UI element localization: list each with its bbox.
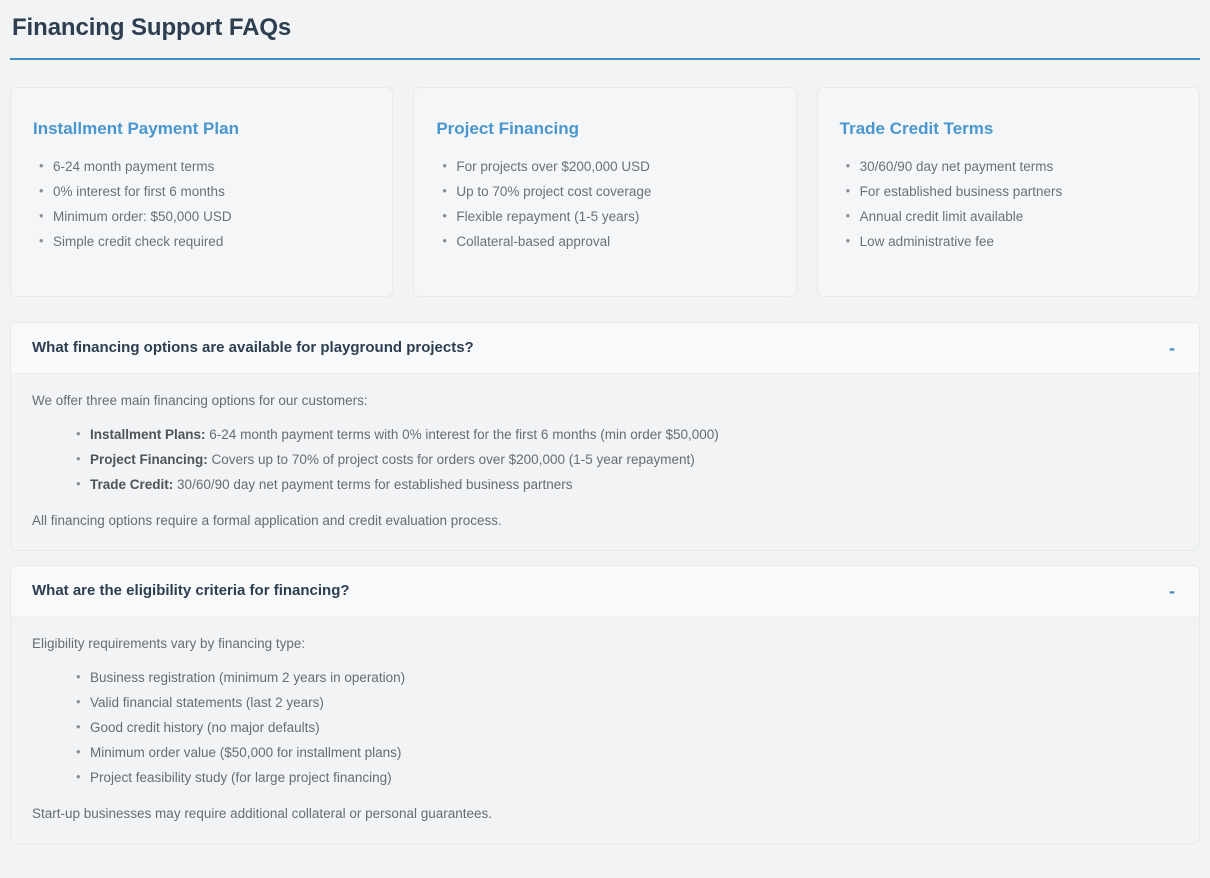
faq-question: What are the eligibility criteria for fi… bbox=[32, 581, 350, 601]
list-item: Minimum order value ($50,000 for install… bbox=[90, 744, 1177, 762]
list-item-text: 6-24 month payment terms with 0% interes… bbox=[209, 427, 718, 442]
list-item: For projects over $200,000 USD bbox=[456, 158, 773, 175]
list-item: 0% interest for first 6 months bbox=[53, 183, 370, 200]
info-card-title: Installment Payment Plan bbox=[33, 118, 370, 140]
list-item-text: Minimum order value ($50,000 for install… bbox=[90, 745, 401, 760]
faq-answer: Eligibility requirements vary by financi… bbox=[11, 617, 1199, 843]
list-item: 30/60/90 day net payment terms bbox=[860, 158, 1177, 175]
info-card-title: Trade Credit Terms bbox=[840, 118, 1177, 140]
list-item: 6-24 month payment terms bbox=[53, 158, 370, 175]
list-item: Trade Credit: 30/60/90 day net payment t… bbox=[90, 476, 1177, 494]
list-item: For established business partners bbox=[860, 183, 1177, 200]
list-item: Project feasibility study (for large pro… bbox=[90, 769, 1177, 787]
list-item-text: Covers up to 70% of project costs for or… bbox=[212, 452, 695, 467]
list-item-text: Good credit history (no major defaults) bbox=[90, 720, 320, 735]
info-card: Trade Credit Terms30/60/90 day net payme… bbox=[817, 87, 1200, 297]
faq-intro-text: Eligibility requirements vary by financi… bbox=[32, 635, 1177, 653]
faq-outro-text: Start-up businesses may require addition… bbox=[32, 805, 1177, 823]
info-card: Installment Payment Plan6-24 month payme… bbox=[10, 87, 393, 297]
info-card-title: Project Financing bbox=[436, 118, 773, 140]
minus-icon[interactable]: - bbox=[1169, 584, 1177, 598]
list-item: Low administrative fee bbox=[860, 233, 1177, 250]
page-header: Financing Support FAQs bbox=[10, 0, 1200, 60]
list-item: Installment Plans: 6-24 month payment te… bbox=[90, 426, 1177, 444]
list-item: Simple credit check required bbox=[53, 233, 370, 250]
list-item-label: Trade Credit: bbox=[90, 477, 173, 492]
info-cards-row: Installment Payment Plan6-24 month payme… bbox=[10, 87, 1200, 297]
list-item-text: Valid financial statements (last 2 years… bbox=[90, 695, 324, 710]
faq-answer-list: Installment Plans: 6-24 month payment te… bbox=[32, 426, 1177, 494]
list-item-text: 30/60/90 day net payment terms for estab… bbox=[177, 477, 572, 492]
list-item: Collateral-based approval bbox=[456, 233, 773, 250]
faq-header[interactable]: What are the eligibility criteria for fi… bbox=[11, 566, 1199, 617]
list-item-label: Installment Plans: bbox=[90, 427, 206, 442]
faq-outro-text: All financing options require a formal a… bbox=[32, 512, 1177, 530]
list-item: Valid financial statements (last 2 years… bbox=[90, 694, 1177, 712]
info-card-list: For projects over $200,000 USDUp to 70% … bbox=[436, 158, 773, 250]
faq-answer-list: Business registration (minimum 2 years i… bbox=[32, 669, 1177, 787]
faq-intro-text: We offer three main financing options fo… bbox=[32, 392, 1177, 410]
info-card: Project FinancingFor projects over $200,… bbox=[413, 87, 796, 297]
faq-item: What financing options are available for… bbox=[10, 322, 1200, 551]
page-title: Financing Support FAQs bbox=[12, 14, 1200, 42]
list-item: Annual credit limit available bbox=[860, 208, 1177, 225]
faq-item: What are the eligibility criteria for fi… bbox=[10, 565, 1200, 844]
list-item: Business registration (minimum 2 years i… bbox=[90, 669, 1177, 687]
list-item: Flexible repayment (1-5 years) bbox=[456, 208, 773, 225]
faq-header[interactable]: What financing options are available for… bbox=[11, 323, 1199, 374]
list-item: Good credit history (no major defaults) bbox=[90, 719, 1177, 737]
list-item-text: Project feasibility study (for large pro… bbox=[90, 770, 392, 785]
info-card-list: 30/60/90 day net payment termsFor establ… bbox=[840, 158, 1177, 250]
faq-page: Financing Support FAQs Installment Payme… bbox=[0, 0, 1210, 878]
list-item-label: Project Financing: bbox=[90, 452, 208, 467]
faq-accordion-list: What financing options are available for… bbox=[10, 322, 1200, 844]
list-item: Up to 70% project cost coverage bbox=[456, 183, 773, 200]
minus-icon[interactable]: - bbox=[1169, 341, 1177, 355]
faq-answer: We offer three main financing options fo… bbox=[11, 374, 1199, 550]
list-item-text: Business registration (minimum 2 years i… bbox=[90, 670, 405, 685]
list-item: Project Financing: Covers up to 70% of p… bbox=[90, 451, 1177, 469]
list-item: Minimum order: $50,000 USD bbox=[53, 208, 370, 225]
info-card-list: 6-24 month payment terms0% interest for … bbox=[33, 158, 370, 250]
faq-question: What financing options are available for… bbox=[32, 338, 474, 358]
